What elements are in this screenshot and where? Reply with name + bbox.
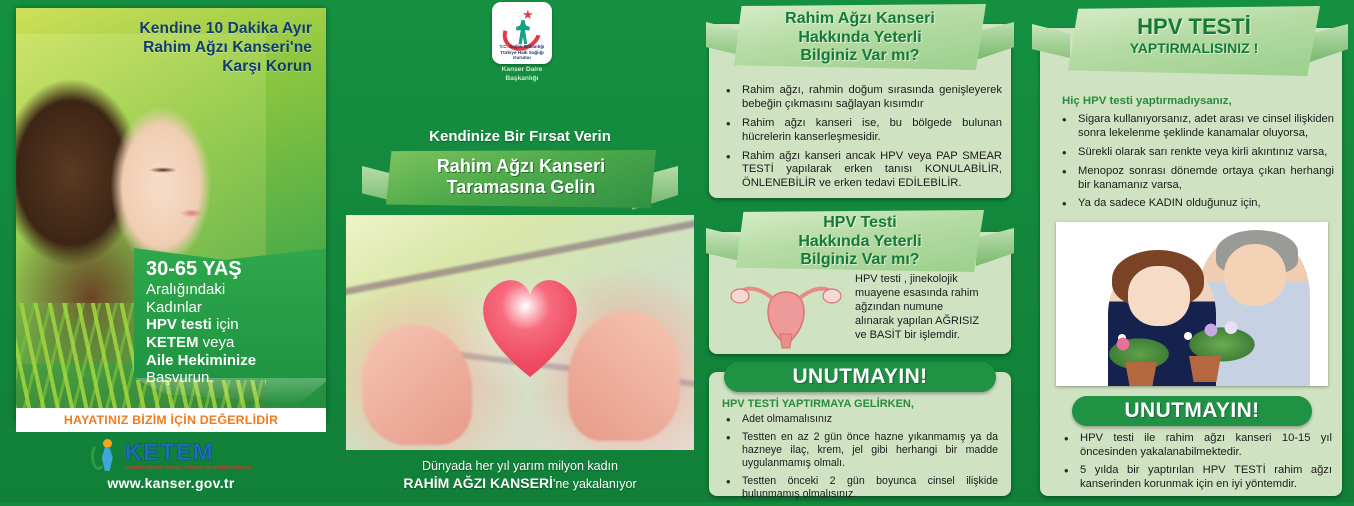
ketem-name: KETEM (125, 441, 253, 465)
ministry-line-1: T.C. Sağlık Bakanlığı (498, 44, 546, 50)
ribbon-line-2: Hakkında Yeterli (736, 233, 984, 252)
cervical-cancer-ribbon: Rahim Ağzı Kanseri Hakkında Yeterli Bilg… (706, 4, 1014, 74)
panel1-callout-text: 30-65 YAŞ Aralığındaki Kadınlar HPV test… (146, 258, 326, 387)
hpv-cta-bullet-list: Sigara kullanıyorsanız, adet arası ve ci… (1056, 113, 1334, 216)
ministry-logo-caption: T.C. Sağlık Bakanlığı Türkiye Halk Sağlı… (498, 44, 546, 61)
panel-call-to-action: HPV TESTİ YAPTIRMALISINIZ ! Hiç HPV test… (1020, 0, 1354, 502)
ketem-website-url[interactable]: www.kanser.gov.tr (16, 475, 326, 491)
list-item: Rahim ağzı, rahmin doğum sırasında geniş… (720, 84, 1002, 112)
ribbon-line-1: Rahim Ağzı Kanseri (386, 156, 656, 177)
callout-line-4: HPV testi için (146, 316, 326, 334)
callout-line-7: Başvurun. (146, 369, 326, 387)
panel2-ribbon-text: Rahim Ağzı Kanseri Taramasına Gelin (386, 156, 656, 198)
ribbon-line-1: HPV TESTİ (1068, 14, 1320, 40)
list-item: Testten önceki 2 gün boyunca cinsel iliş… (720, 475, 998, 501)
hpv-cta-lead: Hiç HPV testi yaptırmadıysanız, (1062, 95, 1322, 107)
ketem-figure-icon (90, 438, 120, 472)
list-item: Ya da sadece KADIN olduğunuz için, (1056, 197, 1334, 211)
callout-line-6: Aile Hekiminize (146, 352, 326, 370)
left-hand (362, 325, 472, 445)
department-line-2: Başkanlığı (482, 75, 562, 84)
caption-line-2-rest: 'ne yakalanıyor (553, 477, 637, 491)
ribbon-line-3: Bilginiz Var mı? (736, 251, 984, 270)
hpv-test-ribbon: HPV Testi Hakkında Yeterli Bilginiz Var … (706, 210, 1014, 276)
elderly-couple-photo (1056, 222, 1328, 386)
list-item: Adet olmamalısınız (720, 413, 998, 426)
hpv-test-ribbon-text: HPV Testi Hakkında Yeterli Bilginiz Var … (736, 214, 984, 270)
list-item: Sigara kullanıyorsanız, adet arası ve ci… (1056, 113, 1334, 141)
ribbon-line-1: Rahim Ağzı Kanseri (734, 10, 986, 29)
hpv-test-description: HPV testi , jinekolojik muayene esasında… (855, 272, 985, 342)
reminder-pill-panel4: UNUTMAYIN! (1072, 396, 1312, 426)
list-item: Rahim ağzı kanseri ise, bu bölgede bulun… (720, 117, 1002, 145)
reminder-pill-panel3: UNUTMAYIN! (724, 362, 996, 392)
panel2-caption: Dünyada her yıl yarım milyon kadın RAHİM… (340, 458, 700, 493)
caption-line-2: RAHİM AĞZI KANSERİ'ne yakalanıyor (340, 474, 700, 492)
caption-line-1: Dünyada her yıl yarım milyon kadın (340, 458, 700, 474)
panel1-card: Kendine 10 Dakika Ayır Rahim Ağzı Kanser… (16, 8, 326, 423)
department-line-1: Kanser Daire (482, 66, 562, 75)
reminder-pill-label: UNUTMAYIN! (1124, 399, 1259, 423)
callout-line-5-rest: veya (199, 334, 235, 351)
callout-line-4-rest: için (212, 316, 239, 333)
callout-line-5: KETEM veya (146, 334, 326, 352)
callout-line-2: Aralığındaki (146, 281, 326, 299)
ketem-logo: KETEM KANSER ERKEN TEŞHİS, TARAMA VE EĞİ… (16, 438, 326, 472)
brochure-board: Kendine 10 Dakika Ayır Rahim Ağzı Kanser… (0, 0, 1354, 502)
cervical-cancer-bullet-list: Rahim ağzı, rahmin doğum sırasında geniş… (720, 84, 1002, 196)
list-item: Testten en az 2 gün önce hazne yıkanmamı… (720, 431, 998, 470)
uterus-anatomy-icon (726, 274, 846, 350)
ketem-logo-block: KETEM KANSER ERKEN TEŞHİS, TARAMA VE EĞİ… (16, 438, 326, 498)
headline-line-3: Karşı Korun (80, 58, 312, 77)
reminder-bullet-list-panel3: Adet olmamalısınız Testten en az 2 gün ö… (720, 413, 998, 506)
ribbon-line-3: Bilginiz Var mı? (734, 47, 986, 66)
list-item: Menopoz sonrası dönemde ortaya çıkan her… (1056, 165, 1334, 193)
face-detail (136, 154, 226, 234)
hpv-cta-ribbon-text: HPV TESTİ YAPTIRMALISINIZ ! (1068, 14, 1320, 56)
reminder-lead-panel3: HPV TESTİ YAPTIRMAYA GELİRKEN, (722, 398, 992, 410)
list-item: Rahim ağzı kanseri ancak HPV veya PAP SM… (720, 150, 1002, 192)
callout-line-3: Kadınlar (146, 299, 326, 317)
hands-heart-photo (346, 215, 694, 450)
list-item: HPV testi ile rahim ağzı kanseri 10-15 y… (1058, 432, 1332, 459)
panel1-headline: Kendine 10 Dakika Ayır Rahim Ağzı Kanser… (80, 20, 312, 77)
ministry-of-health-logo: ★ T.C. Sağlık Bakanlığı Türkiye Halk Sağ… (492, 2, 552, 64)
callout-age-range: 30-65 YAŞ (146, 258, 326, 281)
panel-information: Rahim Ağzı Kanseri Hakkında Yeterli Bilg… (700, 0, 1020, 502)
panel-invitation: ★ T.C. Sağlık Bakanlığı Türkiye Halk Sağ… (340, 0, 700, 502)
ribbon-line-1: HPV Testi (736, 214, 984, 233)
hpv-cta-ribbon: HPV TESTİ YAPTIRMALISINIZ ! (1032, 6, 1348, 80)
ribbon-line-2: Taramasına Gelin (386, 177, 656, 198)
cervical-cancer-ribbon-text: Rahim Ağzı Kanseri Hakkında Yeterli Bilg… (734, 10, 986, 66)
pink-flowers (1108, 334, 1138, 354)
reminder-bullet-list-panel4: HPV testi ile rahim ağzı kanseri 10-15 y… (1058, 432, 1332, 497)
ribbon-line-2: YAPTIRMALISINIZ ! (1068, 40, 1320, 56)
caption-cancer-bold: RAHİM AĞZI KANSERİ (403, 475, 553, 491)
violet-flowers (1196, 318, 1246, 342)
right-hand (568, 311, 680, 441)
slogan-band: HAYATINIZ BİZİM İÇİN DEĞERLİDİR (16, 408, 326, 432)
panel2-ribbon: Rahim Ağzı Kanseri Taramasına Gelin (362, 150, 678, 212)
ministry-line-3: Kurumu (498, 55, 546, 61)
ribbon-line-2: Hakkında Yeterli (734, 29, 986, 48)
headline-line-1: Kendine 10 Dakika Ayır (80, 20, 312, 39)
ribbon-wing-left (1032, 24, 1070, 58)
callout-ketem-bold: KETEM (146, 334, 199, 351)
headline-line-2: Rahim Ağzı Kanseri'ne (80, 39, 312, 58)
callout-hpv-bold: HPV testi (146, 316, 212, 333)
slogan-text: HAYATINIZ BİZİM İÇİN DEĞERLİDİR (64, 413, 278, 427)
panel2-kicker: Kendinize Bir Fırsat Verin (340, 128, 700, 145)
panel-awareness: Kendine 10 Dakika Ayır Rahim Ağzı Kanser… (0, 0, 340, 502)
department-caption: Kanser Daire Başkanlığı (482, 66, 562, 83)
reminder-pill-label: UNUTMAYIN! (792, 365, 927, 389)
list-item: 5 yılda bir yaptırılan HPV TESTİ rahim a… (1058, 464, 1332, 491)
ketem-tagline: KANSER ERKEN TEŞHİS, TARAMA VE EĞİTİM ME… (125, 465, 253, 470)
ketem-wordmark: KETEM KANSER ERKEN TEŞHİS, TARAMA VE EĞİ… (125, 441, 253, 470)
woman-face (1128, 266, 1190, 326)
man-face (1224, 244, 1286, 306)
list-item: Sürekli olarak sarı renkte veya kirli ak… (1056, 146, 1334, 160)
